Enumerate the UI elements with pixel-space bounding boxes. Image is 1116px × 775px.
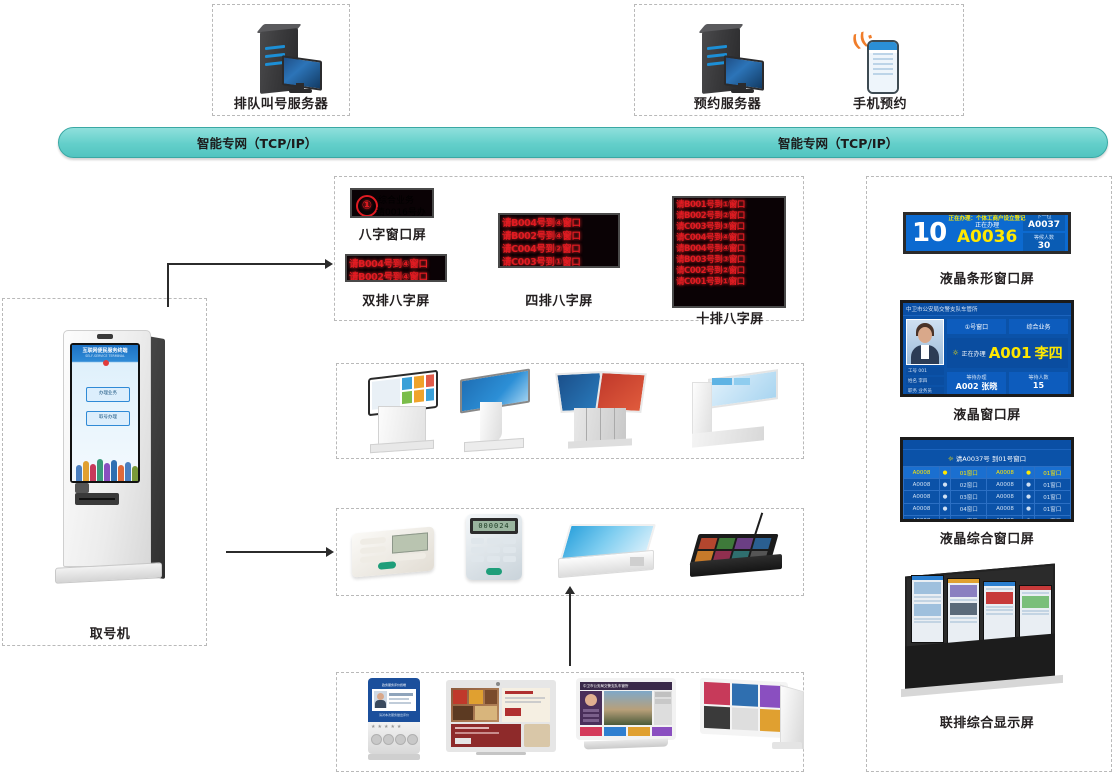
led-row: 请B003号到③窗口	[674, 253, 784, 264]
led-four-row-caption: 四排八字屏	[503, 290, 615, 309]
lcd-window-screen: 中卫市公安局交警支队车管所 工号 001 姓名 李四 职务 业务员 ①号窗口 综…	[900, 300, 1074, 397]
lcd-strip-waiting-label: 等候人数	[1023, 234, 1065, 241]
cell-ticket: A0008	[904, 515, 940, 522]
cell-dot: ●	[939, 479, 950, 491]
kiosk-logo-dot	[103, 360, 109, 366]
cell-window: 01窗口	[1034, 491, 1070, 503]
lcd-strip-waiting: 等候人数 30	[1023, 233, 1065, 252]
led-double-row-caption: 双排八字屏	[340, 290, 452, 309]
led-row: 请C001号到①窗口	[674, 275, 784, 286]
cell-dot: ●	[939, 503, 950, 515]
cell-ticket: A0008	[904, 503, 940, 515]
cell-dot: ●	[939, 467, 950, 479]
led-row: 请B001号到①窗口	[674, 198, 784, 209]
lcd-window-caption: 液晶窗口屏	[897, 404, 1077, 423]
led-row: 请C004号到④窗口	[674, 231, 784, 242]
kiosk-screen-subtitle: SELF-SERVICE TERMINAL	[72, 354, 138, 358]
video-wall-panel	[947, 578, 980, 646]
panel-header	[948, 579, 979, 583]
staff-info-row: 工号 001	[906, 367, 944, 375]
star-rating-evaluator: 政务服务评价终端 请对本次服务做出评价 ★★★★★	[366, 678, 422, 762]
panel-block	[1022, 596, 1049, 608]
panel-line	[986, 613, 1013, 615]
video-wall-display	[905, 570, 1065, 700]
phone-line	[873, 68, 893, 70]
smartphone-icon	[867, 40, 899, 94]
led-row: 请B004号到④窗口	[347, 256, 445, 269]
lcd-window-next-label: 等待办理	[947, 374, 1006, 381]
curved-touch-kiosk	[458, 372, 532, 450]
cell-ticket: A0008	[904, 467, 940, 479]
panel-header	[1020, 586, 1051, 590]
staff-info-row: 姓名 李四	[906, 377, 944, 385]
lcd-window-next-cell: 等待办理 A002 张晓	[947, 372, 1006, 394]
floor-standing-touch-kiosk	[362, 372, 440, 450]
cell-window: 01窗口	[1034, 467, 1070, 479]
led-row: 请B002号到④窗口	[500, 228, 618, 241]
lcd-window-business: 综合业务	[1009, 319, 1068, 334]
lcd-window-botrow: 等待办理 A002 张晓 等待人数 15	[947, 372, 1068, 394]
led-ten-row-panel: 请B001号到①窗口 请B002号到②窗口 请C003号到③窗口 请C004号到…	[672, 196, 786, 308]
staff-photo	[906, 319, 944, 365]
connector-kiosk-to-led	[167, 263, 325, 265]
led-double-row-panel: 请B004号到④窗口 请B002号到④窗口	[345, 254, 447, 282]
table-row: A0008 ● 02窗口 A0008 ● 01窗口	[904, 479, 1071, 491]
panel-block	[950, 603, 977, 615]
lcd-comprehensive-window-screen: ☼ 请A0037号 到01号窗口 A0008 ● 01窗口 A0008 ● 01…	[900, 437, 1074, 522]
kiosk-printer-slot	[79, 498, 115, 500]
lcd-window-body: 工号 001 姓名 李四 职务 业务员 ①号窗口 综合业务 ☼ 正在办理 A00…	[903, 316, 1071, 397]
panel-line	[1022, 613, 1049, 615]
lcd-window-serving-ticket: A001	[989, 344, 1032, 362]
mobile-booking-label: 手机预约	[820, 93, 940, 112]
lcd-window-waiting-label: 等待人数	[1009, 374, 1068, 381]
connector-terminal-to-evaluator	[569, 594, 571, 666]
lcd-comprehensive-caption: 液晶综合窗口屏	[897, 528, 1077, 547]
arrow-head-up-evaluator	[565, 586, 575, 594]
panel-line	[914, 618, 941, 620]
lcd-strip-window-number: 10	[912, 220, 946, 246]
queue-server-label: 排队叫号服务器	[212, 93, 350, 112]
cell-dot: ●	[1023, 503, 1034, 515]
dual-screen-evaluator	[700, 680, 804, 758]
cell-window: 03窗口	[951, 491, 987, 503]
lcd-strip-current-value: A0036	[951, 229, 1023, 247]
bell-icon: ☼	[948, 455, 954, 463]
panel-header	[984, 582, 1015, 586]
lcd-window-toprow: ①号窗口 综合业务	[947, 319, 1068, 334]
lcd-window-serving-name: 李四	[1035, 343, 1063, 363]
staff-info-row: 职务 业务员	[906, 387, 944, 395]
led-four-row-panel: 请B004号到④窗口 请B002号到④窗口 请C004号到②窗口 请C003号到…	[498, 213, 620, 268]
led-row: 请C004号到②窗口	[500, 241, 618, 254]
led-row: 请B002号到④窗口	[347, 269, 445, 282]
lcd-window-serving-row: ☼ 正在办理 A001 李四	[947, 338, 1068, 368]
phone-line	[873, 73, 893, 75]
phone-body	[869, 53, 897, 94]
cell-ticket: A0008	[987, 491, 1023, 503]
lcd-window-main-panel: ①号窗口 综合业务 ☼ 正在办理 A001 李四 等待办理 A002 张晓 等待…	[947, 316, 1071, 397]
kiosk-screen-content: 互联网便民服务终端 SELF-SERVICE TERMINAL 办理业务 取号办…	[72, 345, 138, 481]
lcd-comp-header	[903, 440, 1071, 450]
lcd-strip-waiting-value: 30	[1023, 241, 1065, 251]
panel-block	[914, 604, 941, 616]
desktop-touch-evaluator	[558, 524, 652, 578]
panel-line	[950, 621, 977, 623]
queue-server-icon	[252, 28, 322, 94]
phone-line	[873, 58, 893, 60]
led-window-panel: ① 综合业务 请0016号办理	[350, 188, 434, 218]
table-row: A0008 ● 03窗口 A0008 ● 01窗口	[904, 491, 1071, 503]
cell-window: 01窗口	[951, 467, 987, 479]
cell-ticket: A0008	[987, 479, 1023, 491]
cell-ticket: A0008	[987, 515, 1023, 522]
panel-line	[950, 617, 977, 619]
video-wall-panel	[911, 575, 944, 643]
led-window-line2: 请0016号办理	[376, 205, 432, 218]
arrow-head-evaluator	[326, 547, 334, 557]
lcd-window-waiting-value: 15	[1009, 381, 1068, 390]
panel-line	[1022, 610, 1049, 612]
tablet-display-terminal	[446, 680, 556, 758]
kiosk-card-reader[interactable]	[75, 483, 89, 493]
panel-line	[914, 596, 941, 598]
panel-block	[950, 585, 977, 597]
cell-window: 04窗口	[951, 503, 987, 515]
lcd-comp-table: A0008 ● 01窗口 A0008 ● 01窗口 A0008 ● 02窗口 A…	[903, 466, 1071, 522]
c-shaped-touch-table	[690, 372, 776, 450]
book-shaped-touch-table	[556, 368, 644, 450]
keypad-evaluator-lcd: 000024	[466, 514, 522, 582]
cell-dot: ●	[939, 491, 950, 503]
network-label-right: 智能专网（TCP/IP）	[778, 133, 898, 152]
connector-kiosk-to-led	[167, 263, 169, 307]
kiosk-screen: 互联网便民服务终端 SELF-SERVICE TERMINAL 办理业务 取号办…	[70, 343, 140, 483]
lcd-strip-current: 正在办理 A0036	[951, 220, 1023, 247]
led-row: 请B004号到④窗口	[500, 215, 618, 228]
phone-line	[873, 63, 893, 65]
lcd-window-waiting-cell: 等待人数 15	[1009, 372, 1068, 394]
number-dispenser-kiosk: 互联网便民服务终端 SELF-SERVICE TERMINAL 办理业务 取号办…	[45, 325, 175, 605]
panel-line	[986, 606, 1013, 608]
lcd-window-next-value: A002 张晓	[947, 381, 1006, 392]
photo-head	[918, 327, 932, 343]
panel-block	[986, 592, 1013, 604]
lcd-comp-call-text: ☼ 请A0037号 到01号窗口	[903, 450, 1071, 466]
arrow-head-led	[325, 259, 333, 269]
kiosk-camera	[97, 334, 113, 339]
cell-window: 01窗口	[1034, 503, 1070, 515]
video-wall-caption: 联排综合显示屏	[897, 712, 1077, 731]
kiosk-button-2[interactable]: 取号办理	[86, 411, 130, 426]
led-row: 请B004号到④窗口	[674, 242, 784, 253]
cell-window: 05窗口	[951, 515, 987, 522]
led-row: 请C003号到①窗口	[500, 254, 618, 267]
phone-statusbar	[869, 42, 897, 50]
keypad-evaluator-beige	[352, 526, 434, 578]
panel-line	[950, 599, 977, 601]
kiosk-people-illustration	[72, 451, 138, 481]
lcd-window-staff-panel: 工号 001 姓名 李四 职务 业务员	[903, 316, 947, 397]
led-row: 请B002号到②窗口	[674, 209, 784, 220]
cell-ticket: A0008	[987, 467, 1023, 479]
table-row: A0008 ● 04窗口 A0008 ● 01窗口	[904, 503, 1071, 515]
desktop-info-terminal: 中卫市公安局交警支队车管所	[576, 678, 676, 758]
led-ten-row-caption: 十排八字屏	[675, 308, 785, 327]
cell-dot: ●	[939, 515, 950, 522]
panel-line	[1022, 592, 1049, 594]
kiosk-screen-title: 互联网便民服务终端	[72, 347, 138, 354]
cell-dot: ●	[1023, 479, 1034, 491]
wireless-touch-evaluator	[690, 518, 784, 580]
phone-line	[873, 53, 893, 55]
lcd-comp-call-label: 请A0037号 到01号窗口	[956, 455, 1026, 463]
panel-block	[914, 582, 941, 594]
lcd-window-header: 中卫市公安局交警支队车管所	[903, 303, 1071, 316]
table-row: A0008 ● 05窗口 A0008 ● 01窗口	[904, 515, 1071, 522]
lcd-window-serving-label: 正在办理	[962, 349, 986, 358]
photo-shirt	[921, 345, 929, 359]
cell-window: 01窗口	[1034, 479, 1070, 491]
cell-dot: ●	[1023, 491, 1034, 503]
bell-icon: ☼	[952, 349, 958, 357]
cell-ticket: A0008	[904, 479, 940, 491]
led-row: 请C003号到③窗口	[674, 220, 784, 231]
panel-header	[912, 576, 943, 580]
led-window-number: ①	[356, 195, 378, 217]
panel-line	[986, 609, 1013, 611]
lcd-strip-caption: 液晶条形窗口屏	[897, 268, 1077, 287]
cell-ticket: A0008	[987, 503, 1023, 515]
led-row: 请C002号到②窗口	[674, 264, 784, 275]
panel-line	[914, 621, 941, 623]
kiosk-button-1[interactable]: 办理业务	[86, 387, 130, 402]
lcd-window-number: ①号窗口	[947, 319, 1006, 334]
cell-window: 02窗口	[951, 479, 987, 491]
led-window-panel-caption: 八字窗口屏	[340, 224, 445, 243]
panel-line	[914, 600, 941, 602]
booking-server-icon	[694, 28, 764, 94]
kiosk-label: 取号机	[50, 623, 170, 642]
cell-dot: ●	[1023, 467, 1034, 479]
booking-server-label: 预约服务器	[660, 93, 795, 112]
network-label-left: 智能专网（TCP/IP）	[197, 133, 317, 152]
connector-kiosk-to-evaluator	[226, 551, 326, 553]
cell-window: 01窗口	[1034, 515, 1070, 522]
cell-dot: ●	[1023, 515, 1034, 522]
cell-ticket: A0008	[904, 491, 940, 503]
panel-line	[986, 588, 1013, 590]
lcd-strip-banner: 正在办理：个体工商户设立登记	[903, 214, 1071, 222]
table-row: A0008 ● 01窗口 A0008 ● 01窗口	[904, 467, 1071, 479]
